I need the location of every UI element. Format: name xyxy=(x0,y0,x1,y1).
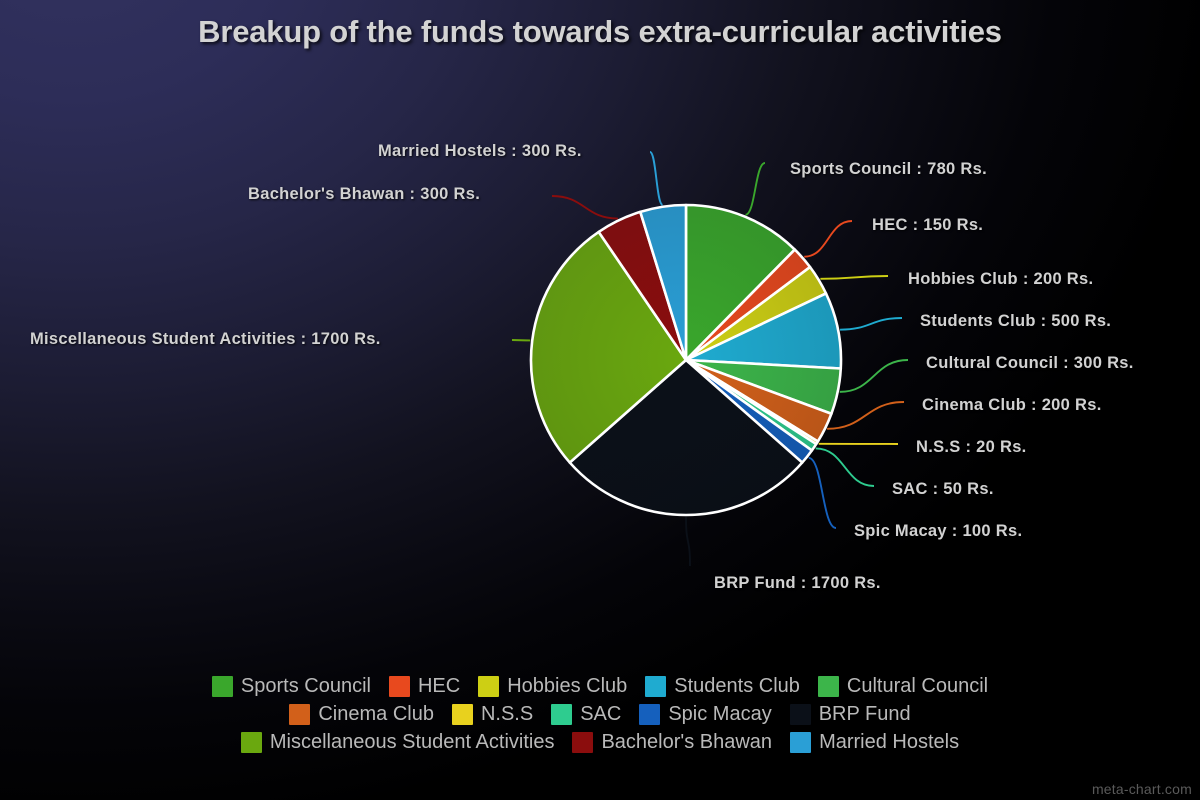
callout-label-nss: N.S.S : 20 Rs. xyxy=(916,438,1027,457)
legend-row: Miscellaneous Student ActivitiesBachelor… xyxy=(0,728,1200,756)
leader-line xyxy=(816,448,874,486)
callout-label-hec: HEC : 150 Rs. xyxy=(872,216,983,235)
legend: Sports CouncilHECHobbies ClubStudents Cl… xyxy=(0,672,1200,756)
legend-swatch-icon xyxy=(452,704,473,725)
leader-line xyxy=(552,196,618,219)
callout-label-students-club: Students Club : 500 Rs. xyxy=(920,312,1111,331)
callout-label-spic-macay: Spic Macay : 100 Rs. xyxy=(854,522,1022,541)
legend-swatch-icon xyxy=(389,676,410,697)
legend-item-label: N.S.S xyxy=(481,703,533,726)
legend-item[interactable]: SAC xyxy=(551,703,621,726)
leader-line xyxy=(840,318,902,330)
leader-line xyxy=(809,458,836,528)
legend-item-label: Cultural Council xyxy=(847,675,988,698)
callout-label-brp-fund: BRP Fund : 1700 Rs. xyxy=(714,574,881,593)
legend-item[interactable]: BRP Fund xyxy=(790,703,911,726)
leader-line xyxy=(650,152,663,205)
pie-slice-group xyxy=(531,205,841,515)
leader-line xyxy=(827,402,904,429)
legend-item[interactable]: Cinema Club xyxy=(289,703,434,726)
callout-label-sac: SAC : 50 Rs. xyxy=(892,480,994,499)
legend-swatch-icon xyxy=(639,704,660,725)
legend-item-label: Cinema Club xyxy=(318,703,434,726)
legend-swatch-icon xyxy=(212,676,233,697)
legend-swatch-icon xyxy=(289,704,310,725)
legend-item[interactable]: Hobbies Club xyxy=(478,675,627,698)
leader-line xyxy=(746,163,765,215)
legend-swatch-icon xyxy=(572,732,593,753)
legend-swatch-icon xyxy=(551,704,572,725)
legend-row: Sports CouncilHECHobbies ClubStudents Cl… xyxy=(0,672,1200,700)
leader-line xyxy=(804,221,852,257)
legend-item-label: BRP Fund xyxy=(819,703,911,726)
callout-label-sports-council: Sports Council : 780 Rs. xyxy=(790,160,987,179)
legend-item-label: HEC xyxy=(418,675,460,698)
legend-item[interactable]: Sports Council xyxy=(212,675,371,698)
legend-item[interactable]: N.S.S xyxy=(452,703,533,726)
callout-label-bachelors-bhawan: Bachelor's Bhawan : 300 Rs. xyxy=(248,185,480,204)
legend-item-label: SAC xyxy=(580,703,621,726)
legend-swatch-icon xyxy=(790,704,811,725)
legend-item-label: Married Hostels xyxy=(819,731,959,754)
leader-line xyxy=(840,360,908,392)
callout-label-hobbies-club: Hobbies Club : 200 Rs. xyxy=(908,270,1093,289)
callout-label-cinema-club: Cinema Club : 200 Rs. xyxy=(922,396,1102,415)
chart-canvas: Breakup of the funds towards extra-curri… xyxy=(0,0,1200,800)
legend-item-label: Miscellaneous Student Activities xyxy=(270,731,555,754)
legend-item[interactable]: Married Hostels xyxy=(790,731,959,754)
legend-item-label: Spic Macay xyxy=(668,703,771,726)
legend-item-label: Hobbies Club xyxy=(507,675,627,698)
legend-item-label: Sports Council xyxy=(241,675,371,698)
legend-item-label: Students Club xyxy=(674,675,800,698)
legend-swatch-icon xyxy=(790,732,811,753)
legend-item[interactable]: Cultural Council xyxy=(818,675,988,698)
legend-swatch-icon xyxy=(645,676,666,697)
leader-line xyxy=(820,276,888,279)
callout-label-cultural-council: Cultural Council : 300 Rs. xyxy=(926,354,1134,373)
legend-item[interactable]: Students Club xyxy=(645,675,800,698)
legend-item[interactable]: HEC xyxy=(389,675,460,698)
legend-item-label: Bachelor's Bhawan xyxy=(601,731,772,754)
legend-item[interactable]: Miscellaneous Student Activities xyxy=(241,731,555,754)
legend-item[interactable]: Spic Macay xyxy=(639,703,771,726)
callout-label-married-hostels: Married Hostels : 300 Rs. xyxy=(378,142,582,161)
leader-line xyxy=(686,517,690,566)
legend-swatch-icon xyxy=(818,676,839,697)
callout-label-misc-activities: Miscellaneous Student Activities : 1700 … xyxy=(30,330,381,349)
legend-swatch-icon xyxy=(241,732,262,753)
legend-row: Cinema ClubN.S.SSACSpic MacayBRP Fund xyxy=(0,700,1200,728)
legend-item[interactable]: Bachelor's Bhawan xyxy=(572,731,772,754)
legend-swatch-icon xyxy=(478,676,499,697)
watermark: meta-chart.com xyxy=(1092,781,1192,797)
